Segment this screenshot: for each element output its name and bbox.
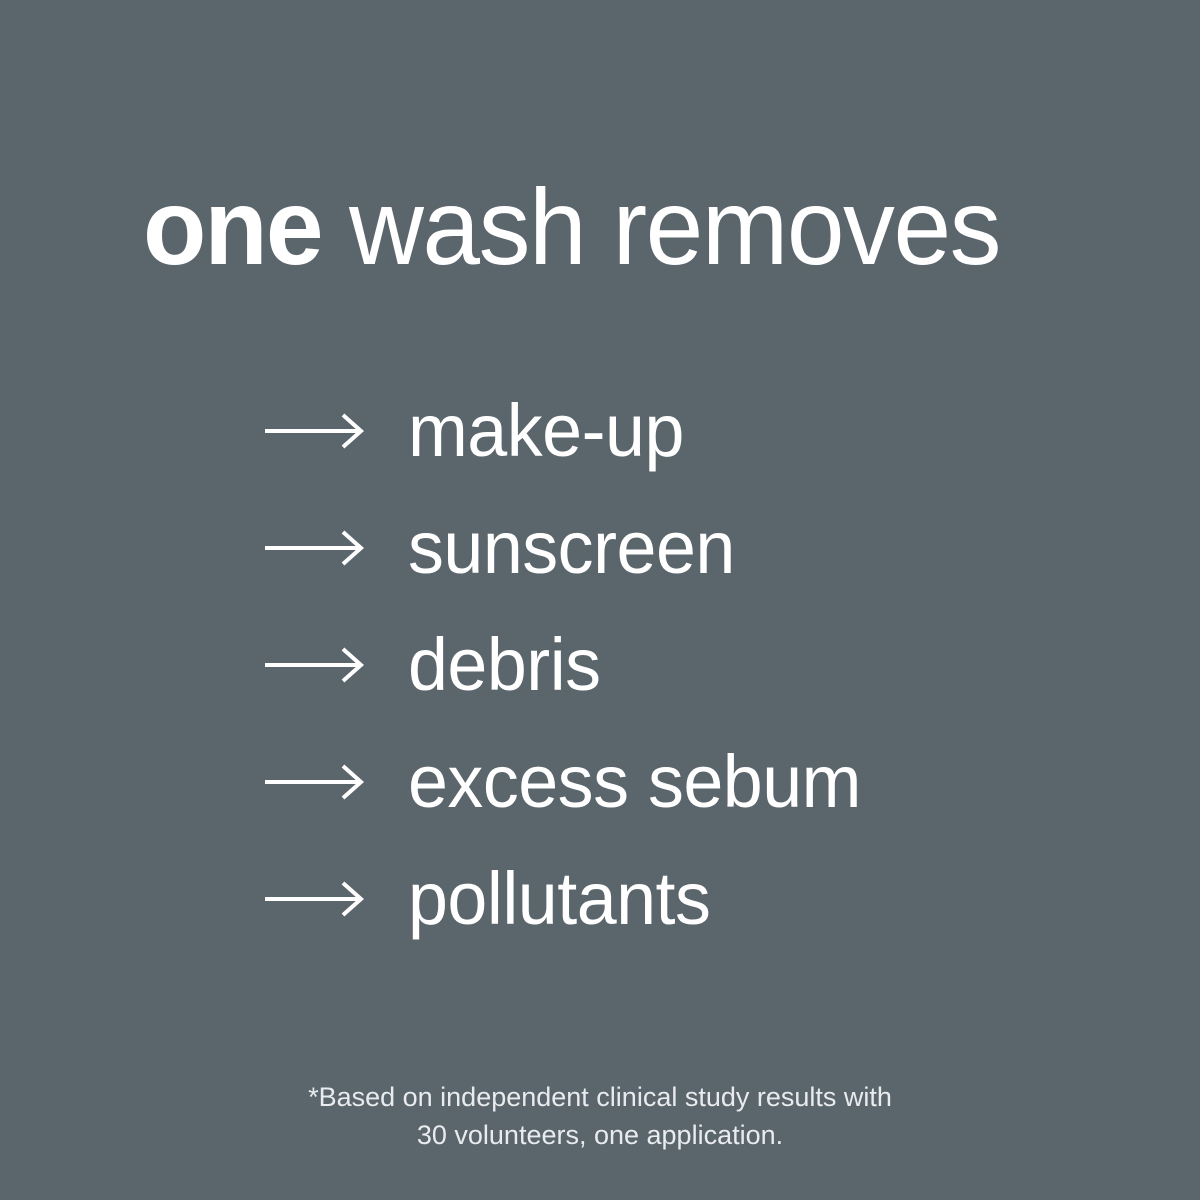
- headline-rest: wash removes: [322, 166, 1000, 287]
- list-item: debris: [264, 606, 1124, 723]
- long-right-arrow-icon: [264, 645, 366, 685]
- list-item-label: sunscreen: [408, 509, 735, 587]
- long-right-arrow-icon: [264, 411, 366, 451]
- long-right-arrow-icon: [264, 879, 366, 919]
- footnote-line-2: 30 volunteers, one application.: [0, 1116, 1200, 1154]
- list-item: excess sebum: [264, 723, 1124, 840]
- page-title: one wash removes: [143, 172, 1065, 282]
- list-item-label: debris: [408, 626, 601, 704]
- headline-emphasis: one: [143, 166, 322, 287]
- long-right-arrow-icon: [264, 528, 366, 568]
- long-right-arrow-icon: [264, 762, 366, 802]
- promotional-poster: one wash removes make-up sunscreen: [0, 0, 1200, 1200]
- footnote-disclaimer: *Based on independent clinical study res…: [0, 1078, 1200, 1154]
- list-item-label: pollutants: [408, 860, 710, 938]
- list-item-label: excess sebum: [408, 743, 861, 821]
- list-item: pollutants: [264, 840, 1124, 957]
- list-item: make-up: [264, 372, 1124, 489]
- list-item-label: make-up: [408, 392, 684, 470]
- removal-list: make-up sunscreen debris: [264, 372, 1124, 957]
- list-item: sunscreen: [264, 489, 1124, 606]
- footnote-line-1: *Based on independent clinical study res…: [0, 1078, 1200, 1116]
